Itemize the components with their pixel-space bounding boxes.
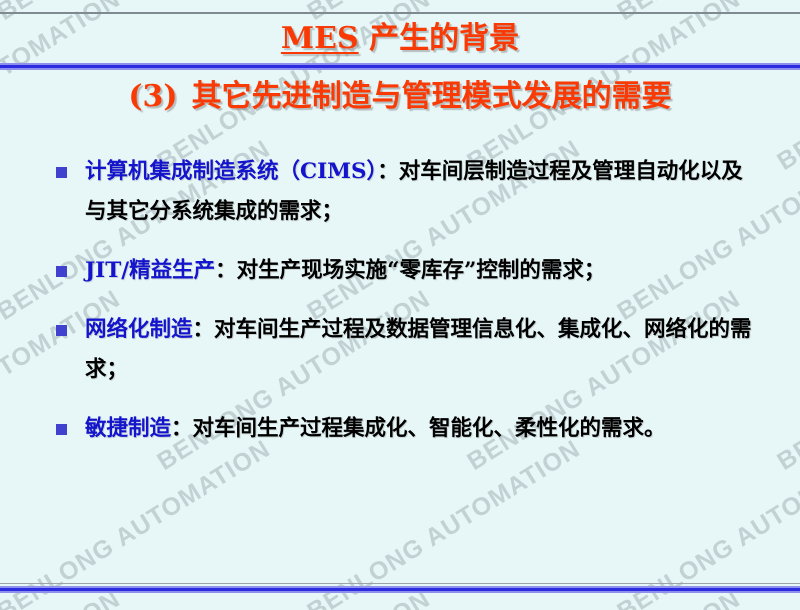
- square-bullet-icon: [56, 424, 67, 435]
- divider-light-bottom: [0, 68, 800, 70]
- square-bullet-icon: [56, 266, 67, 277]
- bottom-rule: [0, 583, 800, 584]
- list-item-lead: 网络化制造: [85, 317, 193, 342]
- subtitle-block: (3)其它先进制造与管理模式发展的需要: [0, 78, 800, 116]
- bullet-list: 计算机集成制造系统（CIMS）：对车间层制造过程及管理自动化以及与其它分系统集成…: [52, 152, 752, 449]
- slide-canvas: BENLONG AUTOMATIONBENLONG AUTOMATIONBENL…: [0, 0, 800, 610]
- list-item: 敏捷制造：对车间生产过程集成化、智能化、柔性化的需求。: [52, 409, 752, 449]
- subtitle-text: 其它先进制造与管理模式发展的需要: [192, 79, 672, 114]
- list-item-body: ：对生产现场实施“零库存”控制的需求；: [215, 258, 605, 283]
- list-item: JIT/精益生产：对生产现场实施“零库存”控制的需求；: [52, 251, 752, 291]
- page-title-underlined: MES: [281, 21, 359, 56]
- footer-divider-light-bottom: [0, 591, 800, 593]
- square-bullet-icon: [56, 167, 67, 178]
- top-rule: [0, 12, 800, 14]
- page-subtitle: (3)其它先进制造与管理模式发展的需要: [0, 78, 800, 116]
- list-item: 计算机集成制造系统（CIMS）：对车间层制造过程及管理自动化以及与其它分系统集成…: [52, 152, 752, 232]
- title-divider: [0, 63, 800, 70]
- page-title: MES 产生的背景: [0, 20, 800, 58]
- list-item: 网络化制造：对车间生产过程及数据管理信息化、集成化、网络化的需求；: [52, 310, 752, 390]
- page-title-rest: 产生的背景: [359, 21, 519, 56]
- footer-divider: [0, 586, 800, 593]
- list-item-lead: JIT/精益生产: [85, 258, 215, 283]
- watermark-text: BENLONG AUTOMATION: [772, 285, 800, 477]
- list-item-body: ：对车间生产过程集成化、智能化、柔性化的需求。: [171, 416, 666, 441]
- title-block: MES 产生的背景: [0, 20, 800, 58]
- square-bullet-icon: [56, 325, 67, 336]
- list-item-lead: 敏捷制造: [85, 416, 171, 441]
- list-item-lead: 计算机集成制造系统（CIMS）: [85, 159, 377, 184]
- subtitle-number: (3): [128, 79, 177, 114]
